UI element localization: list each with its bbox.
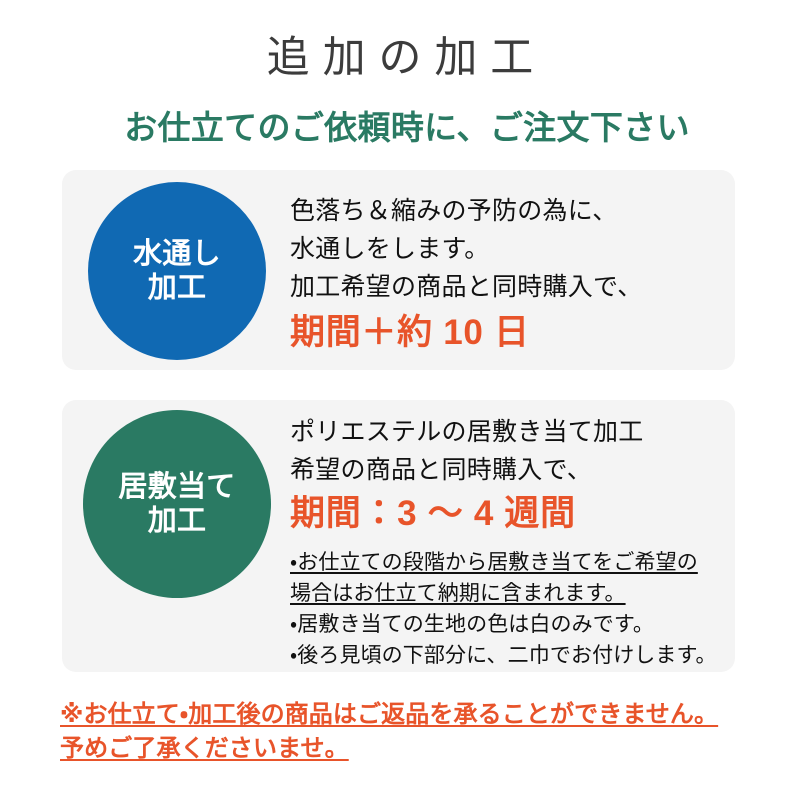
card-duration-highlight: 期間：3 〜 4 週間 (290, 491, 725, 537)
page-subtitle: お仕立てのご依頼時に、ご注文下さい (62, 108, 752, 148)
card-description-line: 色落ち＆縮みの予防の為に、 (290, 192, 725, 230)
card-note-item: 場合はお仕立て納期に含まれます。 (290, 578, 725, 609)
card-notes-list: ・お仕立ての段階から居敷き当てをご希望の 場合はお仕立て納期に含まれます。 ・居… (290, 547, 725, 671)
water-shrink-circle-badge: 水通し 加工 (88, 182, 266, 360)
card-description-line: 水通しをします。 (290, 230, 725, 268)
card-body: ポリエステルの居敷き当て加工 希望の商品と同時購入で、 期間：3 〜 4 週間 … (290, 413, 725, 671)
badge-label-line1: 居敷当て (118, 470, 235, 504)
badge-label-line2: 加工 (148, 504, 207, 538)
card-body: 色落ち＆縮みの予防の為に、 水通しをします。 加工希望の商品と同時購入で、 期間… (290, 192, 725, 356)
footer-notice-line: 予めご了承くださいませ。 (60, 732, 780, 766)
lining-patch-circle-badge: 居敷当て 加工 (83, 410, 271, 598)
card-duration-highlight: 期間＋約 10 日 (290, 310, 725, 356)
card-note-item: ・後ろ見頃の下部分に、二巾でお付けします。 (290, 640, 725, 671)
badge-label-line1: 水通し (133, 237, 221, 271)
card-description-line: 希望の商品と同時購入で、 (290, 451, 725, 489)
page-title: 追加の加工 (0, 36, 800, 81)
footer-notice-line: ※お仕立て・加工後の商品はご返品を承ることができません。 (60, 698, 780, 732)
infographic-page: 追加の加工 お仕立てのご依頼時に、ご注文下さい 水通し 加工 色落ち＆縮みの予防… (0, 0, 800, 800)
card-note-item: ・居敷き当ての生地の色は白のみです。 (290, 609, 725, 640)
service-card-ishikiate: 居敷当て 加工 ポリエステルの居敷き当て加工 希望の商品と同時購入で、 期間：3… (62, 400, 735, 672)
card-description-line: 加工希望の商品と同時購入で、 (290, 268, 725, 306)
badge-label-line2: 加工 (148, 271, 207, 305)
card-note-item: ・お仕立ての段階から居敷き当てをご希望の (290, 547, 725, 578)
service-card-mizutoshi: 水通し 加工 色落ち＆縮みの予防の為に、 水通しをします。 加工希望の商品と同時… (62, 170, 735, 370)
card-description-line: ポリエステルの居敷き当て加工 (290, 413, 725, 451)
footer-notice: ※お仕立て・加工後の商品はご返品を承ることができません。 予めご了承くださいませ… (60, 698, 780, 766)
